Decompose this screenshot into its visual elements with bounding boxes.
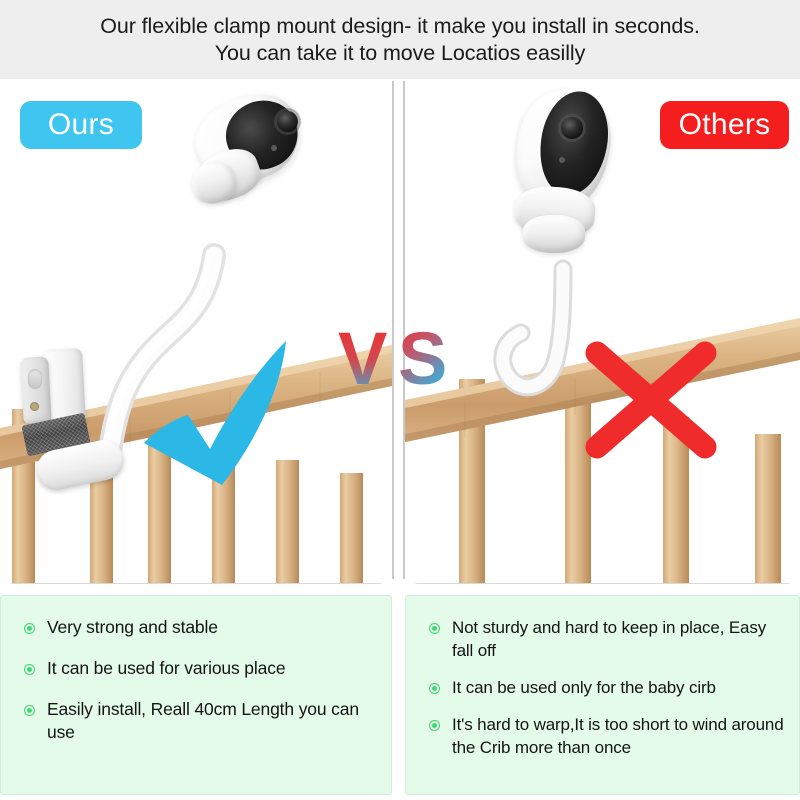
list-item-label: Very strong and stable [47,616,218,639]
list-item: Not sturdy and hard to keep in place, Ea… [424,616,785,662]
badge-others: Others [660,101,789,149]
list-item: Easily install, Reall 40cm Length you ca… [19,698,377,744]
list-item-label: It can be used only for the baby cirb [452,676,716,699]
bullet-icon [430,684,439,693]
check-icon [136,337,306,487]
list-item-label: Not sturdy and hard to keep in place, Ea… [452,616,785,662]
list-item: It can be used for various place [19,657,377,680]
panel-others [405,79,800,584]
panel-ours [0,79,392,584]
camera-lens [277,111,298,132]
header-line-1: Our flexible clamp mount design- it make… [100,13,699,40]
vs-badge: V S [336,322,464,392]
list-item: It can be used only for the baby cirb [424,676,785,699]
badge-ours: Ours [20,101,142,149]
list-item: It's hard to warp,It is too short to win… [424,713,785,759]
svg-text:S: S [398,322,447,392]
clamp-jaw-back [20,356,51,423]
notes-ours: Very strong and stable It can be used fo… [0,595,392,795]
bullet-icon [25,706,34,715]
clamp-screw-slot [28,369,42,389]
list-item-label: It can be used for various place [47,657,285,680]
clamp-screw-head [30,402,39,411]
header-banner: Our flexible clamp mount design- it make… [0,0,800,79]
list-item: Very strong and stable [19,616,377,639]
crib-left [0,79,392,584]
camera-lens [561,117,583,139]
notes-others: Not sturdy and hard to keep in place, Ea… [405,595,800,795]
comparison-image-area: V S Ours Others [0,79,800,584]
product-comparison-infographic: Our flexible clamp mount design- it make… [0,0,800,800]
camera-indicator-dot [271,145,277,151]
camera-joint [523,215,585,253]
bullet-icon [25,624,34,633]
bullet-icon [25,665,34,674]
list-item-label: It's hard to warp,It is too short to win… [452,713,785,759]
header-line-2: You can take it to move Locatios easilly [215,40,585,67]
bullet-icon [430,721,439,730]
camera-indicator-dot [559,157,565,163]
svg-text:V: V [338,322,387,392]
list-item-label: Easily install, Reall 40cm Length you ca… [47,698,377,744]
bullet-icon [430,624,439,633]
